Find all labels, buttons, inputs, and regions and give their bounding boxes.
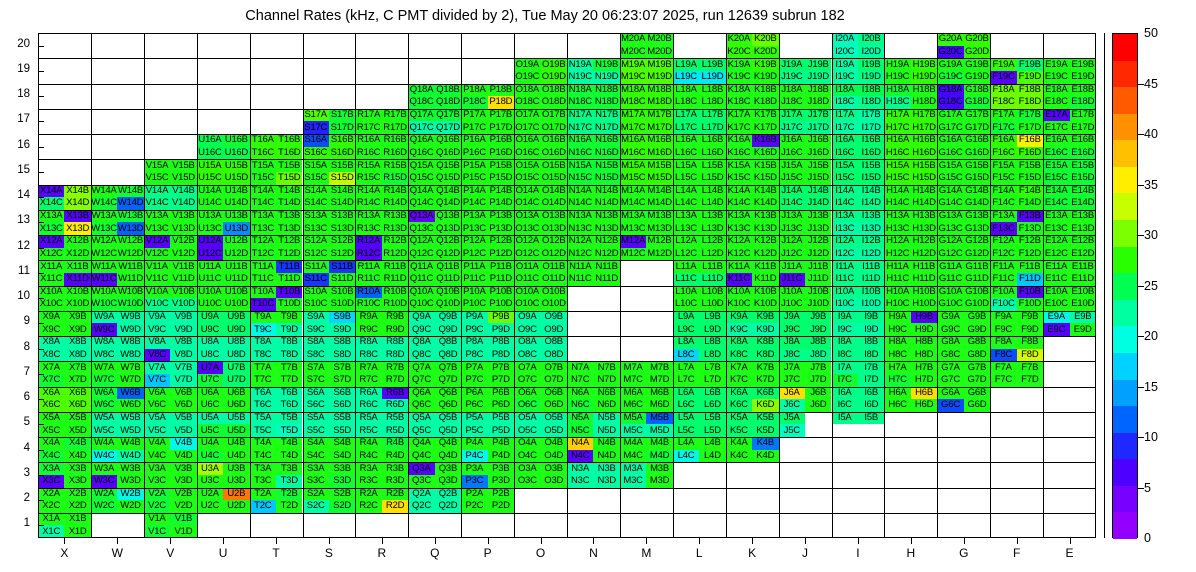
colorbar-tick-label: 50	[1144, 26, 1158, 40]
colorbar-band	[1113, 486, 1137, 513]
y-axis-tick	[38, 349, 44, 350]
x-axis-label: H	[891, 546, 931, 560]
x-axis-label: G	[944, 546, 984, 560]
y-axis-label: 6	[0, 391, 30, 403]
y-axis-label: 10	[0, 290, 30, 302]
colorbar-tick-label: 30	[1144, 228, 1158, 242]
colorbar-band	[1113, 34, 1137, 61]
y-axis-tick	[38, 298, 44, 299]
x-axis-label: N	[573, 546, 613, 560]
colorbar-band	[1113, 380, 1137, 407]
colorbar-tick-label: 10	[1144, 430, 1158, 444]
y-axis-tick	[38, 323, 44, 324]
colorbar-band	[1113, 273, 1137, 300]
x-axis-tick	[117, 538, 118, 544]
colorbar-tick	[1137, 387, 1144, 388]
x-axis-tick	[752, 538, 753, 544]
y-axis-label: 5	[0, 416, 30, 428]
page-title: Channel Rates (kHz, C PMT divided by 2),…	[0, 8, 1090, 24]
x-axis-tick	[858, 538, 859, 544]
x-axis-tick	[223, 538, 224, 544]
y-axis-tick	[38, 71, 44, 72]
colorbar-tick-label: 0	[1144, 531, 1151, 545]
y-axis-tick	[38, 46, 44, 47]
colorbar-tick-label: 20	[1144, 329, 1158, 343]
colorbar	[1112, 33, 1138, 538]
y-axis-label: 11	[0, 265, 30, 277]
y-axis-label: 12	[0, 240, 30, 252]
x-axis-tick	[435, 538, 436, 544]
x-axis-tick	[593, 538, 594, 544]
y-axis-label: 20	[0, 38, 30, 50]
colorbar-tick-label: 15	[1144, 380, 1158, 394]
x-axis-label: M	[626, 546, 666, 560]
colorbar-tick	[1137, 185, 1144, 186]
colorbar-band	[1113, 300, 1137, 327]
y-axis-label: 1	[0, 517, 30, 529]
y-axis-label: 14	[0, 189, 30, 201]
x-axis-label: T	[256, 546, 296, 560]
colorbar-band	[1113, 353, 1137, 380]
y-axis-label: 19	[0, 63, 30, 75]
y-axis-label: 18	[0, 88, 30, 100]
y-axis-tick	[38, 248, 44, 249]
colorbar-band	[1113, 433, 1137, 460]
x-axis-tick	[329, 538, 330, 544]
colorbar-tick	[1137, 84, 1144, 85]
x-axis-label: U	[203, 546, 243, 560]
colorbar-tick	[1137, 437, 1144, 438]
colorbar-band	[1113, 140, 1137, 167]
y-axis-tick	[38, 475, 44, 476]
x-axis-label: F	[997, 546, 1037, 560]
colorbar-tick	[1137, 488, 1144, 489]
y-axis-label: 2	[0, 492, 30, 504]
x-axis-tick	[488, 538, 489, 544]
x-axis-label: V	[150, 546, 190, 560]
x-axis-tick	[1017, 538, 1018, 544]
y-axis-tick	[38, 525, 44, 526]
x-axis-tick	[1070, 538, 1071, 544]
y-axis-tick	[38, 399, 44, 400]
y-axis-label: 16	[0, 139, 30, 151]
x-axis-label: O	[521, 546, 561, 560]
x-axis-tick	[646, 538, 647, 544]
colorbar-tick-label: 5	[1144, 481, 1151, 495]
colorbar-tick	[1137, 134, 1144, 135]
colorbar-tick-label: 40	[1144, 127, 1158, 141]
x-axis-label: W	[97, 546, 137, 560]
colorbar-axis: 05101520253035404550	[1138, 33, 1178, 538]
colorbar-band	[1113, 326, 1137, 353]
y-axis-tick	[38, 197, 44, 198]
colorbar-band	[1113, 61, 1137, 88]
colorbar-tick-label: 35	[1144, 178, 1158, 192]
y-axis-tick	[38, 450, 44, 451]
x-axis-label: I	[838, 546, 878, 560]
colorbar-left-line	[1104, 33, 1105, 538]
y-axis-tick	[38, 222, 44, 223]
colorbar-band	[1113, 406, 1137, 433]
y-axis-label: 9	[0, 315, 30, 327]
colorbar-band	[1113, 167, 1137, 194]
y-axis-tick	[38, 121, 44, 122]
colorbar-tick-label: 45	[1144, 77, 1158, 91]
x-axis-label: P	[468, 546, 508, 560]
colorbar-band	[1113, 247, 1137, 274]
x-axis-label: X	[44, 546, 84, 560]
channel-rates-plot: Channel Rates (kHz, C PMT divided by 2),…	[0, 0, 1196, 572]
y-axis-label: 7	[0, 366, 30, 378]
y-axis-label: 3	[0, 467, 30, 479]
x-axis-tick	[64, 538, 65, 544]
heatmap-grid: X14AX14BX14CX14DX13AX13BX13CX13DX12AX12B…	[38, 33, 1096, 538]
x-axis-tick	[699, 538, 700, 544]
y-axis-tick	[38, 172, 44, 173]
x-axis-tick	[911, 538, 912, 544]
y-axis-tick	[38, 374, 44, 375]
colorbar-tick	[1137, 286, 1144, 287]
y-axis-tick	[38, 500, 44, 501]
x-axis-label: J	[785, 546, 825, 560]
colorbar-band	[1113, 220, 1137, 247]
colorbar-band	[1113, 87, 1137, 114]
x-axis-tick	[382, 538, 383, 544]
y-axis-label: 8	[0, 341, 30, 353]
colorbar-tick-label: 25	[1144, 279, 1158, 293]
plot-frame	[38, 33, 1096, 538]
colorbar-band	[1113, 512, 1137, 539]
y-axis-tick	[38, 424, 44, 425]
x-axis-label: Q	[415, 546, 455, 560]
y-axis-tick	[38, 147, 44, 148]
x-axis-tick	[541, 538, 542, 544]
x-axis-label: S	[309, 546, 349, 560]
colorbar-band	[1113, 193, 1137, 220]
colorbar-tick	[1137, 235, 1144, 236]
y-axis-label: 13	[0, 214, 30, 226]
x-axis-tick	[964, 538, 965, 544]
x-axis-label: R	[362, 546, 402, 560]
y-axis-tick	[38, 96, 44, 97]
x-axis-label: E	[1050, 546, 1090, 560]
colorbar-band	[1113, 459, 1137, 486]
y-axis-tick	[38, 273, 44, 274]
x-axis-label: K	[732, 546, 772, 560]
x-axis-tick	[276, 538, 277, 544]
colorbar-band	[1113, 114, 1137, 141]
x-axis-label: L	[679, 546, 719, 560]
colorbar-tick	[1137, 336, 1144, 337]
y-axis-label: 17	[0, 113, 30, 125]
x-axis-tick	[170, 538, 171, 544]
x-axis-tick	[805, 538, 806, 544]
y-axis-label: 4	[0, 442, 30, 454]
y-axis-label: 15	[0, 164, 30, 176]
